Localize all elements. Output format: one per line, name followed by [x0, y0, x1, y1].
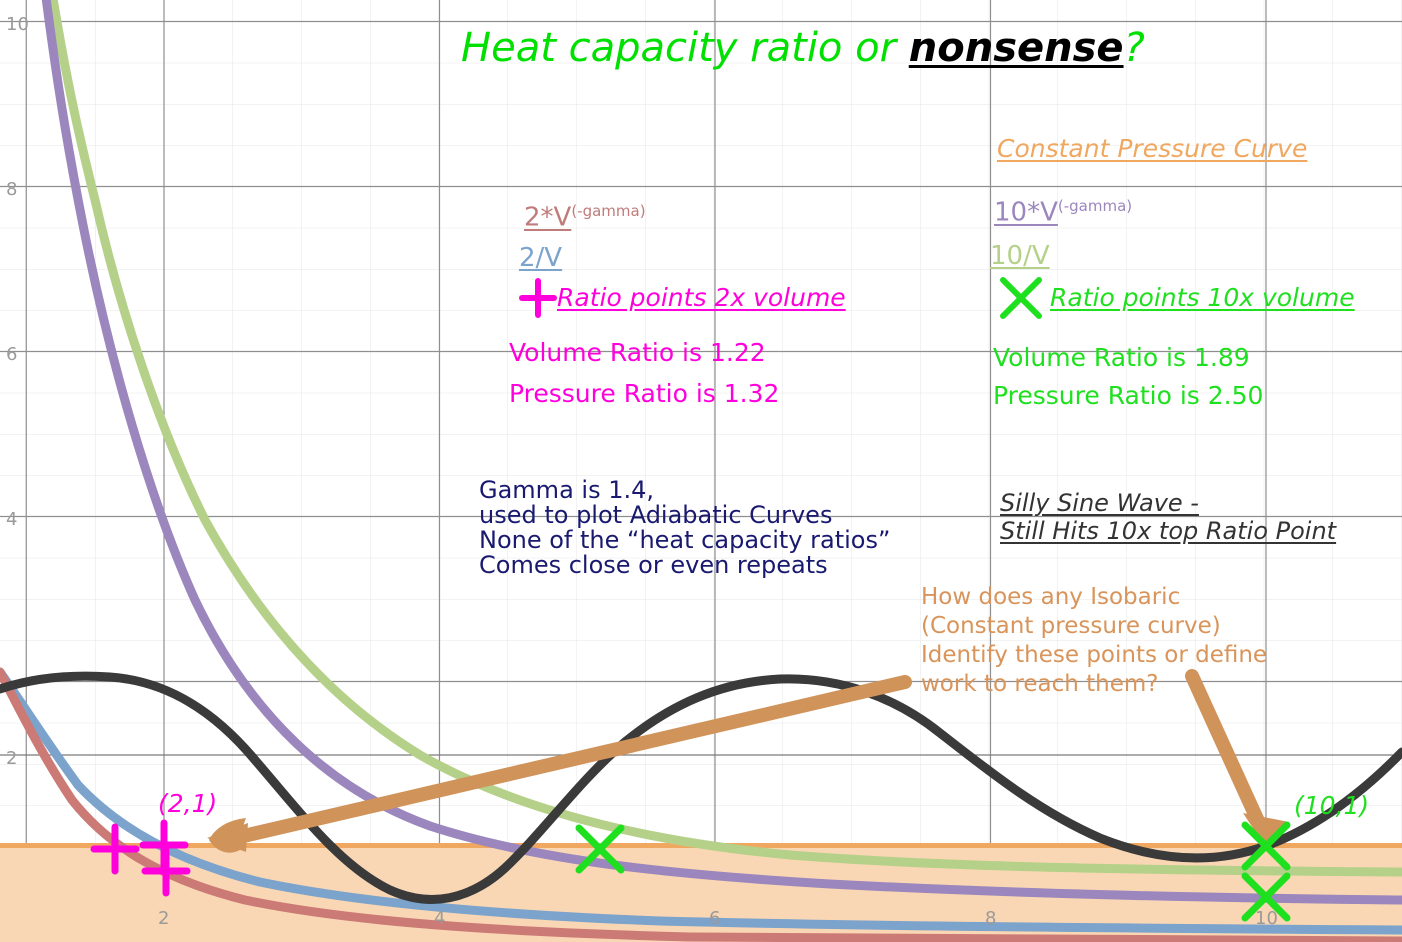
pressure-ratio-2x: Pressure Ratio is 1.32: [509, 381, 779, 406]
isobaric-question-note: How does any Isobaric (Constant pressure…: [921, 583, 1267, 699]
legend-adiabatic-10v-label: 10*V: [994, 198, 1058, 228]
silly-sine-wave-line1: Silly Sine Wave -: [1000, 489, 1199, 517]
title-emphasis: nonsense: [909, 25, 1124, 71]
title-part3: ?: [1124, 25, 1145, 71]
chart-canvas: Heat capacity ratio or nonsense? Constan…: [0, 0, 1402, 942]
x-tick-10: 10: [1255, 908, 1278, 929]
legend-adiabatic-2v: 2*V(-gamma): [524, 204, 646, 231]
legend-isotherm-10-over-v: 10/V: [990, 243, 1050, 269]
y-tick-4: 4: [6, 509, 17, 530]
x-tick-2: 2: [158, 908, 169, 929]
gamma-note: Gamma is 1.4, used to plot Adiabatic Cur…: [479, 478, 890, 578]
x-tick-4: 4: [434, 908, 445, 929]
volume-ratio-2x: Volume Ratio is 1.22: [509, 340, 766, 365]
y-tick-10: 10: [6, 14, 29, 35]
y-tick-8: 8: [6, 179, 17, 200]
volume-ratio-10x: Volume Ratio is 1.89: [993, 345, 1250, 370]
legend-adiabatic-2v-label: 2*V: [524, 203, 571, 233]
x-tick-6: 6: [709, 908, 720, 929]
legend-ratio-points-2x: Ratio points 2x volume: [557, 285, 846, 310]
title-part1: Heat capacity ratio or: [461, 25, 909, 71]
page-title: Heat capacity ratio or nonsense?: [461, 28, 1145, 68]
y-tick-6: 6: [6, 344, 17, 365]
point-label-2-1: (2,1): [158, 791, 217, 816]
point-label-10-1: (10,1): [1294, 793, 1369, 818]
legend-adiabatic-2v-exponent: (-gamma): [571, 202, 645, 220]
legend-ratio-points-10x: Ratio points 10x volume: [1050, 285, 1355, 310]
x-tick-8: 8: [985, 908, 996, 929]
silly-sine-wave-line2: Still Hits 10x top Ratio Point: [1000, 517, 1336, 545]
legend-isotherm-2-over-v: 2/V: [519, 245, 562, 271]
legend-constant-pressure-curve: Constant Pressure Curve: [997, 136, 1307, 161]
pressure-ratio-10x: Pressure Ratio is 2.50: [993, 383, 1263, 408]
y-tick-2: 2: [6, 748, 17, 769]
silly-sine-wave-note: Silly Sine Wave -Still Hits 10x top Rati…: [1000, 489, 1336, 545]
legend-adiabatic-10v: 10*V(-gamma): [994, 199, 1132, 226]
legend-adiabatic-10v-exponent: (-gamma): [1058, 197, 1132, 215]
